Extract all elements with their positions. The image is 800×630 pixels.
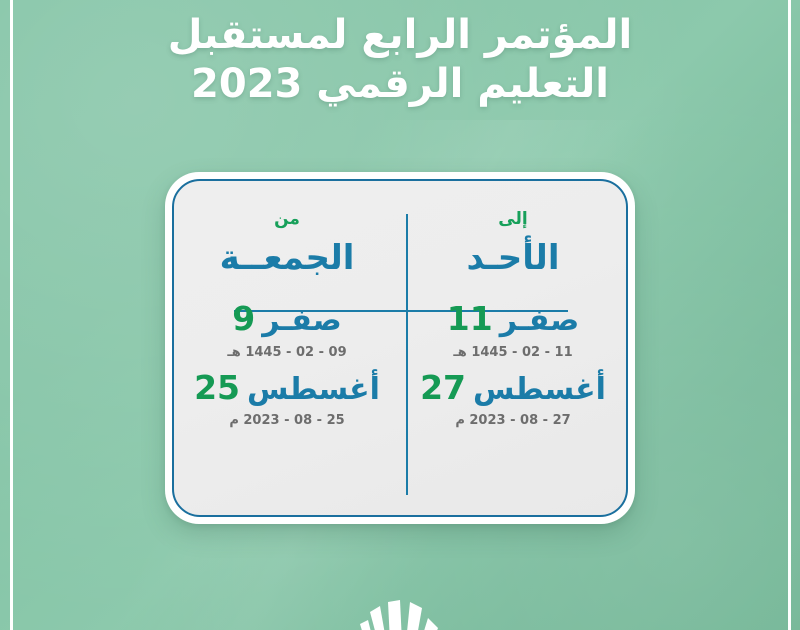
gregorian-full-to: 27 - 08 - 2023 م [400, 413, 626, 428]
hijri-date-to: صفـر 11 [400, 301, 626, 337]
hijri-day-from: 9 [232, 301, 255, 337]
gregorian-full-from: 25 - 08 - 2023 م [174, 413, 400, 428]
gregorian-month-from: أغسطس [247, 374, 380, 406]
hijri-month-from: صفـر [262, 305, 342, 337]
poster-canvas: المؤتمر الرابع لمستقبل التعليم الرقمي 20… [0, 0, 800, 630]
title-line-2: التعليم الرقمي 2023 [0, 63, 800, 106]
hijri-full-to: 11 - 02 - 1445 هـ [400, 345, 626, 360]
title-line-1: المؤتمر الرابع لمستقبل [0, 14, 800, 57]
date-card-inner: إلى الأحـد صفـر 11 11 - 02 - 1445 هـ أغس… [172, 179, 628, 517]
column-label-from: من [174, 211, 400, 228]
date-column-from: من الجمعــة صفـر 9 09 - 02 - 1445 هـ أغس… [174, 181, 400, 515]
gregorian-day-from: 25 [194, 370, 240, 406]
column-label-to: إلى [400, 211, 626, 228]
gregorian-day-to: 27 [420, 370, 466, 406]
hijri-month-to: صفـر [500, 305, 580, 337]
day-name-to: الأحـد [400, 240, 626, 277]
date-card-surface: إلى الأحـد صفـر 11 11 - 02 - 1445 هـ أغس… [165, 172, 635, 524]
date-card: إلى الأحـد صفـر 11 11 - 02 - 1445 هـ أغس… [165, 172, 635, 524]
hijri-day-to: 11 [447, 301, 493, 337]
gregorian-month-to: أغسطس [473, 374, 606, 406]
date-columns: إلى الأحـد صفـر 11 11 - 02 - 1445 هـ أغس… [174, 181, 626, 515]
gregorian-date-from: أغسطس 25 [174, 370, 400, 406]
date-column-to: إلى الأحـد صفـر 11 11 - 02 - 1445 هـ أغس… [400, 181, 626, 515]
hijri-full-from: 09 - 02 - 1445 هـ [174, 345, 400, 360]
gregorian-date-to: أغسطس 27 [400, 370, 626, 406]
hijri-date-from: صفـر 9 [174, 301, 400, 337]
page-title: المؤتمر الرابع لمستقبل التعليم الرقمي 20… [0, 14, 800, 106]
palm-fan-emblem [340, 590, 460, 630]
day-name-from: الجمعــة [174, 240, 400, 277]
